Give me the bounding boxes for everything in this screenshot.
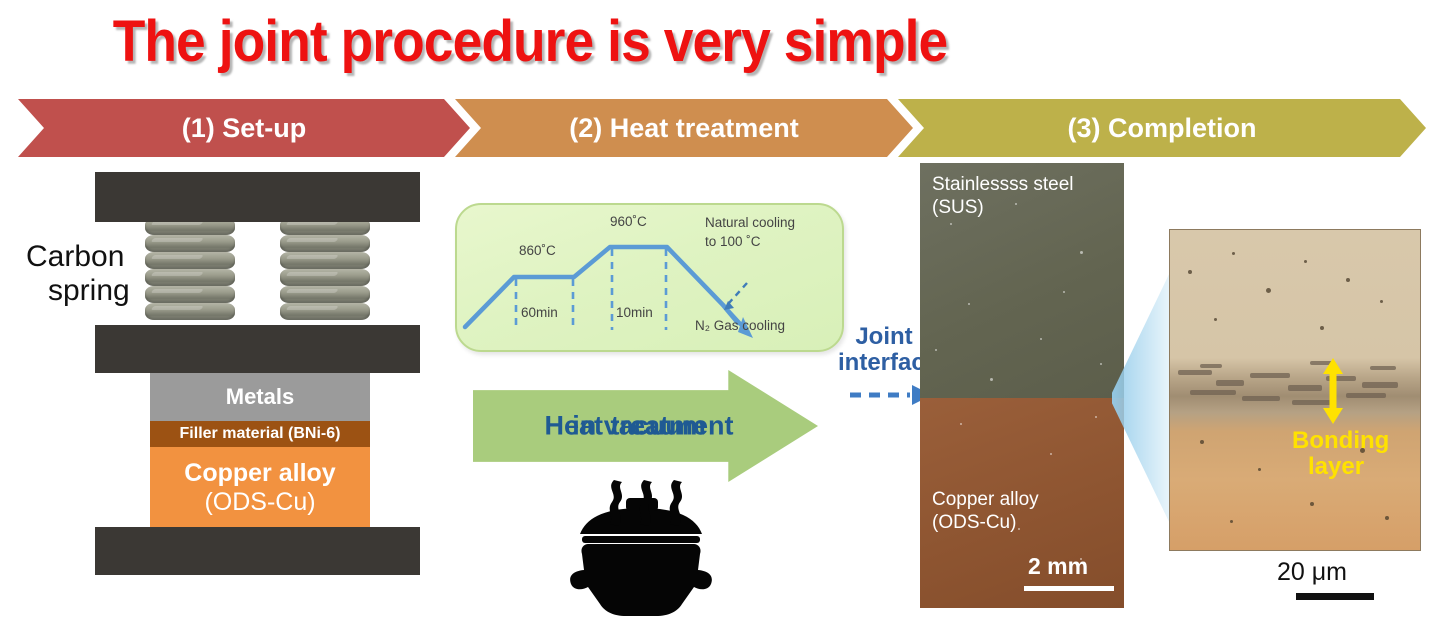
carbon-spring-label-line1: Carbon [26,240,146,274]
macro-scale-label: 2 mm [1028,553,1088,580]
step-banner-2-label: (2) Heat treatment [569,113,799,144]
macrograph-stainless-steel: Stainlessss steel (SUS) [920,163,1124,398]
macrograph-copper-alloy: Copper alloy (ODS-Cu) 2 mm [920,398,1124,608]
carbon-spring-left [145,222,235,325]
macro-top-label: Stainlessss steel (SUS) [932,173,1074,219]
carbon-spring-label-line2: spring [26,274,146,308]
thermal-profile-chart: 860˚C 960˚C 60min 10min Natural cooling … [455,203,844,352]
bonding-layer-line2: layer [1292,454,1389,480]
macro-top-label-line2: (SUS) [932,196,1074,219]
macro-bottom-label-line1: Copper alloy [932,488,1039,511]
macro-bottom-label: Copper alloy (ODS-Cu) [932,488,1039,534]
chart-label-n2-gas-cooling: N₂ Gas cooling [695,318,785,333]
filler-label: Filler material (BNi-6) [180,425,341,443]
press-plate-bottom [95,527,420,575]
micro-scale-bar [1296,593,1374,600]
joint-interface-line1: Joint [838,324,930,350]
carbon-spring-right [280,222,370,325]
chart-label-960: 960˚C [610,214,647,229]
copper-label-line2: (ODS-Cu) [204,488,315,516]
chart-label-natural-cooling-1: Natural cooling [705,215,795,230]
joint-interface-line2: interface [838,350,930,376]
bonding-layer-line1: Bonding [1292,428,1389,454]
step-banner-3-label: (3) Completion [1068,113,1257,144]
bonding-layer-arrow-icon [1320,358,1346,424]
step-banner-3[interactable]: (3) Completion [898,99,1426,157]
heat-treatment-arrow: Heat treatment in vacuum [473,370,818,482]
metals-label: Metals [226,384,294,410]
chart-label-natural-cooling-2: to 100 ˚C [705,234,761,249]
filler-block: Filler material (BNi-6) [150,421,370,447]
micrograph-bonding-layer: Bonding layer [1170,230,1420,550]
chart-label-860: 860˚C [519,243,556,258]
press-plate-top [95,172,420,222]
step-banner-1[interactable]: (1) Set-up [18,99,470,157]
metals-block: Metals [150,373,370,421]
macro-scale-bar [1024,586,1114,591]
chart-label-60min: 60min [521,305,558,320]
micro-scale-label: 20 μm [1277,558,1347,587]
copper-label-line1: Copper alloy [184,459,335,487]
step-banner-2[interactable]: (2) Heat treatment [455,99,913,157]
step-banner-1-label: (1) Set-up [182,113,307,144]
joint-interface-label: Joint interface [838,324,930,377]
chart-label-10min: 10min [616,305,653,320]
steaming-pot-icon [556,478,726,618]
carbon-spring-label: Carbon spring [26,240,146,307]
press-plate-middle [95,325,420,373]
macro-top-label-line1: Stainlessss steel [932,173,1074,196]
bonding-layer-label: Bonding layer [1292,428,1389,481]
page-title: The joint procedure is very simple [42,8,1017,75]
macro-bottom-label-line2: (ODS-Cu) [932,511,1039,534]
copper-alloy-block: Copper alloy (ODS-Cu) [150,447,370,528]
arrow-line2: in vacuum [509,411,769,440]
